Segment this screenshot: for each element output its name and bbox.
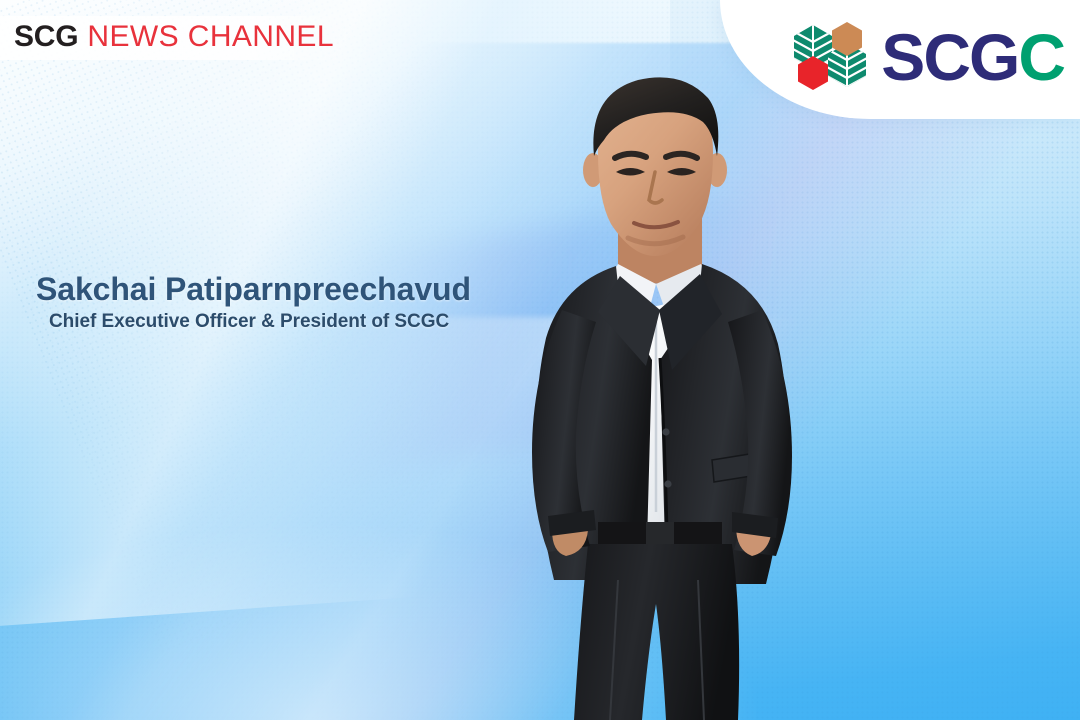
trousers bbox=[574, 544, 739, 720]
banner-brand-text: SCG bbox=[14, 20, 78, 54]
banner-channel-text: NEWS CHANNEL bbox=[87, 20, 334, 54]
person-title: Chief Executive Officer & President of S… bbox=[36, 311, 471, 334]
executive-portrait bbox=[470, 60, 850, 720]
scgc-wordmark-accent: C bbox=[1018, 24, 1064, 90]
portrait-illustration bbox=[470, 60, 850, 720]
news-channel-banner: SCG NEWS CHANNEL bbox=[0, 16, 350, 60]
jacket-button-upper bbox=[662, 428, 669, 435]
scgc-wordmark: SCG C bbox=[881, 24, 1064, 90]
scgc-wordmark-primary: SCG bbox=[881, 24, 1018, 90]
news-channel-banner-card: SCG NEWS CHANNEL bbox=[0, 0, 1080, 720]
jacket-button-lower bbox=[664, 480, 671, 487]
person-name-block: Sakchai Patiparnpreechavud Chief Executi… bbox=[36, 272, 471, 334]
person-name: Sakchai Patiparnpreechavud bbox=[36, 272, 471, 308]
